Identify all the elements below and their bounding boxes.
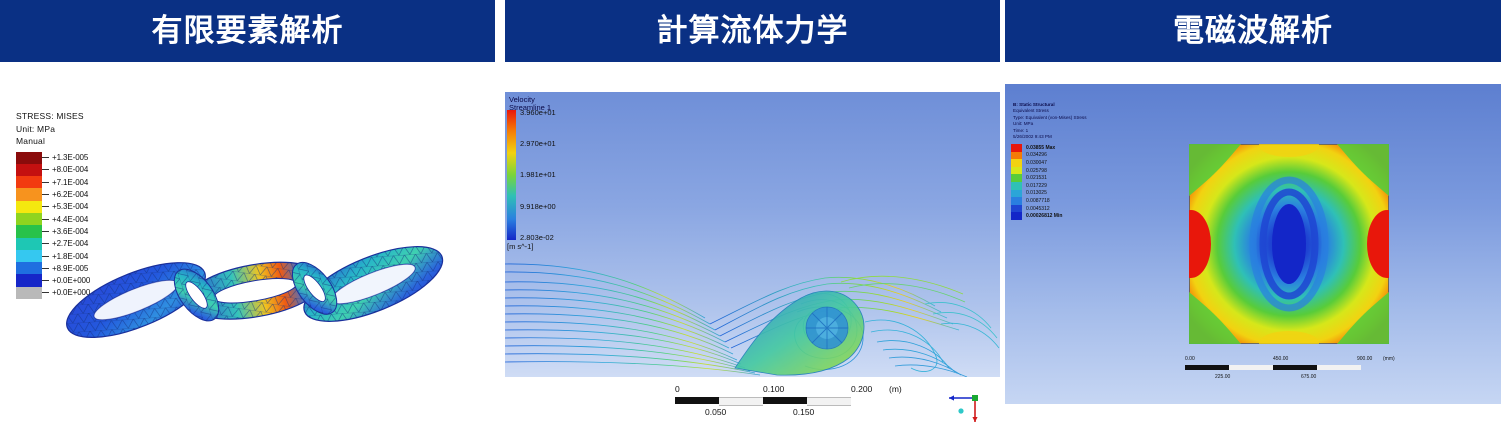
em-legend-value: 0.00026812 Min [1026,213,1062,219]
fea-legend-swatch [16,176,42,188]
cfd-tick-2: 1.981e+01 [520,170,556,179]
cfd-scale-label-1: 0.100 [763,384,784,394]
fea-chain-mesh-graphic [50,167,470,417]
cfd-tick-4: 2.803e-02 [520,233,554,242]
em-legend-row: 0.0087718 [1011,197,1062,205]
panel-title-em: 電磁波解析 [1173,16,1333,47]
cfd-scale-seg-3 [763,397,807,404]
em-legend-value: 0.034296 [1026,152,1047,158]
panel-computational-fluid-dynamics: 計算流体力学 [505,0,1000,423]
em-scale-label-2: 900.00 [1357,356,1372,362]
em-legend-value: 0.030047 [1026,160,1047,166]
cfd-legend-unit: [m s^-1] [507,242,533,251]
panel-header-em: 電磁波解析 [1005,0,1501,62]
fea-legend-tick [42,194,49,195]
fea-legend-swatch [16,225,42,237]
em-legend-swatch [1011,152,1022,160]
em-legend-value: 0.013025 [1026,190,1047,196]
em-legend-swatch [1011,205,1022,213]
em-legend: 0.03855 Max0.0342960.0300470.0257980.021… [1011,144,1062,220]
em-scale-seg-1 [1185,365,1229,370]
em-scale-seg-3 [1273,365,1317,370]
em-legend-row: 0.021531 [1011,174,1062,182]
em-scale-sublabel-0: 225.00 [1215,374,1230,380]
fea-legend-swatch [16,213,42,225]
fea-legend-tick [42,169,49,170]
axis-z-marker [958,408,963,413]
cfd-streamlines-graphic [505,92,1000,377]
fea-legend-swatch [16,287,42,299]
cfd-tick-3: 9.918e+00 [520,202,556,211]
panel-body-em: B: Static Structural Equivalent Stress T… [1005,62,1501,423]
em-legend-swatch [1011,197,1022,205]
cfd-scale-seg-2 [719,397,763,406]
em-scale-seg-2 [1229,365,1273,370]
fea-legend-swatch [16,164,42,176]
em-legend-swatch [1011,174,1022,182]
em-legend-row: 0.017229 [1011,182,1062,190]
panel-electromagnetic-analysis: 電磁波解析 B: Static Structural Equivalent St… [1005,0,1501,423]
fea-legend-swatch [16,152,42,164]
fea-legend-tick [42,280,49,281]
cfd-scale-unit: (m) [889,384,902,394]
em-legend-swatch [1011,167,1022,175]
em-legend-value: 0.017229 [1026,183,1047,189]
panel-body-fea: STRESS: MISES Unit: MPa Manual +1.3E-005… [0,62,495,423]
em-legend-row: 0.00026812 Min [1011,212,1062,220]
em-legend-swatch [1011,190,1022,198]
em-legend-row: 0.03855 Max [1011,144,1062,152]
fea-legend-tick [42,231,49,232]
fea-legend-tick [42,157,49,158]
cfd-scale-seg-4 [807,397,851,406]
fea-legend-title-1: STRESS: MISES [16,110,90,123]
em-legend-row: 0.013025 [1011,190,1062,198]
axis-x-arrow [949,395,954,400]
fea-legend-swatch [16,274,42,286]
em-legend-value: 0.03855 Max [1026,145,1055,151]
axis-y-arrow [972,417,977,422]
em-legend-swatch [1011,182,1022,190]
em-legend-row: 0.030047 [1011,159,1062,167]
em-legend-row: 0.034296 [1011,152,1062,160]
fea-legend-swatch [16,188,42,200]
fea-legend-row: +1.3E-005 [16,152,90,164]
cfd-scale-label-2: 0.200 [851,384,872,394]
cfd-scale-sublabel-1: 0.150 [793,407,814,417]
panel-finite-element-analysis: 有限要素解析 STRESS: MISES Unit: MPa Manual +1… [0,0,495,423]
em-legend-swatch [1011,159,1022,167]
em-legend-value: 0.0087718 [1026,198,1050,204]
cfd-scale-sublabel-0: 0.050 [705,407,726,417]
em-legend-swatch [1011,144,1022,152]
em-legend-row: 0.025798 [1011,167,1062,175]
axis-origin-marker [972,395,978,401]
em-scale-unit: (mm) [1383,356,1395,362]
em-contour-plot-graphic [1189,144,1389,344]
panel-title-fea: 有限要素解析 [152,16,344,47]
fea-legend-title-2: Unit: MPa [16,123,90,136]
em-info-line-5: 5/26/2002 9:43 PM [1013,134,1087,140]
cfd-scale-seg-1 [675,397,719,404]
fea-legend-swatch [16,250,42,262]
fea-legend-title-3: Manual [16,135,90,148]
em-legend-value: 0.025798 [1026,168,1047,174]
panel-header-fea: 有限要素解析 [0,0,495,62]
cfd-viewport: Velocity Streamline 1 3.960e+01 2.970e+0… [505,92,1000,377]
cfd-tick-1: 2.970e+01 [520,139,556,148]
cfd-scale-bar: 0 0.100 0.200 (m) 0.050 0.150 [675,384,975,422]
panel-title-cfd: 計算流体力学 [657,16,849,47]
fea-legend-tick [42,292,49,293]
fea-legend-tick [42,182,49,183]
fea-legend-swatch [16,238,42,250]
em-scale-seg-4 [1317,365,1361,370]
fea-legend-swatch [16,201,42,213]
cfd-colorbar [507,110,516,240]
em-legend-swatch [1011,212,1022,220]
fea-legend-tick [42,243,49,244]
fea-legend-tick [42,268,49,269]
cfd-tick-0: 3.960e+01 [520,108,556,117]
fea-legend-tick [42,219,49,220]
em-scale-sublabel-1: 675.00 [1301,374,1316,380]
fea-legend-value: +1.3E-005 [52,153,88,162]
cae-showcase-board: 有限要素解析 STRESS: MISES Unit: MPa Manual +1… [0,0,1501,423]
cfd-axis-triad [945,392,985,423]
em-legend-value: 0.021531 [1026,175,1047,181]
fea-legend-tick [42,256,49,257]
panel-body-cfd: Velocity Streamline 1 3.960e+01 2.970e+0… [505,62,1000,423]
fea-legend-swatch [16,262,42,274]
em-scale-label-0: 0.00 [1185,356,1195,362]
fea-legend-tick [42,206,49,207]
cfd-scale-label-0: 0 [675,384,680,394]
em-legend-row: 0.0045312 [1011,205,1062,213]
panel-header-cfd: 計算流体力学 [505,0,1000,62]
em-legend-value: 0.0045312 [1026,206,1050,212]
em-info-block: B: Static Structural Equivalent Stress T… [1013,102,1087,140]
em-scale-bar: 0.00 450.00 900.00 (mm) 225.00 675.00 [1185,356,1405,384]
fea-viewport: STRESS: MISES Unit: MPa Manual +1.3E-005… [0,62,495,423]
em-scale-label-1: 450.00 [1273,356,1288,362]
em-viewport: B: Static Structural Equivalent Stress T… [1005,84,1501,404]
